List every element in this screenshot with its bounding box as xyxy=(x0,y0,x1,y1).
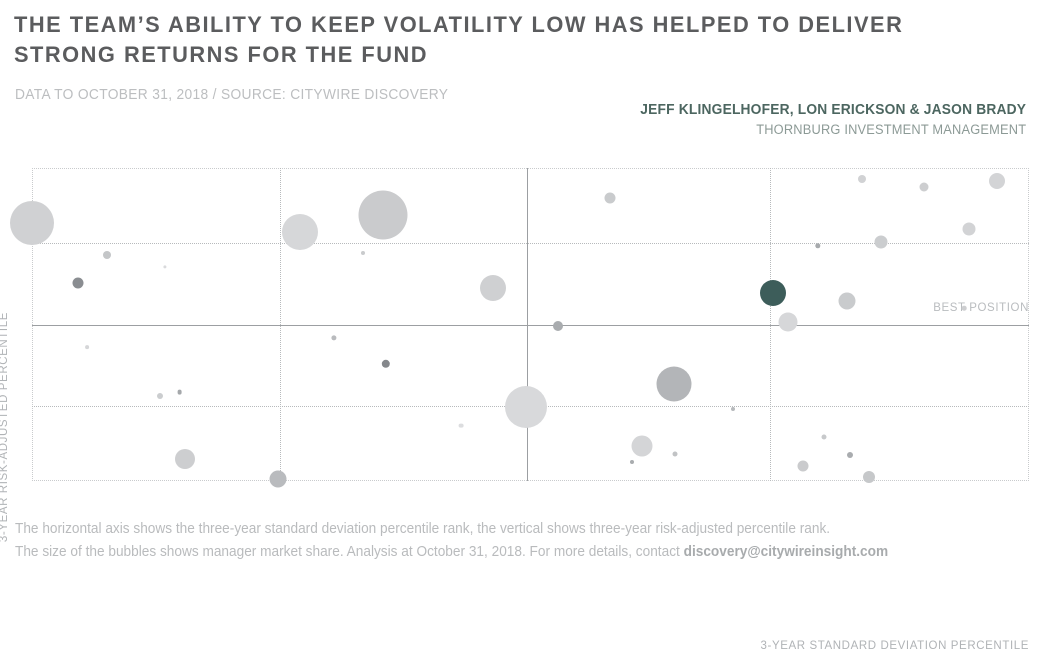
bubble-point[interactable] xyxy=(270,471,287,488)
bubble-point[interactable] xyxy=(657,367,692,402)
bubble-point[interactable] xyxy=(847,452,853,458)
bubble-point[interactable] xyxy=(72,277,83,288)
contact-email-link[interactable]: discovery@citywireinsight.com xyxy=(684,544,889,560)
data-source-subtitle: DATA TO OCTOBER 31, 2018 / SOURCE: CITYW… xyxy=(15,87,448,103)
bubble-point[interactable] xyxy=(480,275,506,301)
bubble-point[interactable] xyxy=(875,236,888,249)
bubble-highlighted[interactable] xyxy=(760,280,786,306)
footer-line-2: The size of the bubbles shows manager ma… xyxy=(15,544,684,560)
x-axis-label: 3-YEAR STANDARD DEVIATION PERCENTILE xyxy=(761,640,1029,652)
y-axis-label: 3-YEAR RISK-ADJUSTED PERCENTILE xyxy=(0,312,10,542)
bubble-chart: 3-YEAR RISK-ADJUSTED PERCENTILE BEST POS… xyxy=(0,150,1040,500)
bubble-point[interactable] xyxy=(10,201,54,245)
bubble-point[interactable] xyxy=(962,306,967,311)
bubble-point[interactable] xyxy=(157,393,163,399)
plot-area xyxy=(32,168,1029,481)
bubble-point[interactable] xyxy=(920,183,929,192)
bubble-point[interactable] xyxy=(838,293,855,310)
bubble-point[interactable] xyxy=(458,423,463,428)
page-title: THE TEAM’S ABILITY TO KEEP VOLATILITY LO… xyxy=(14,10,965,70)
bubble-point[interactable] xyxy=(673,452,678,457)
bubble-point[interactable] xyxy=(778,312,797,331)
bubble-point[interactable] xyxy=(821,435,826,440)
bubble-point[interactable] xyxy=(505,386,547,428)
footer-note: The horizontal axis shows the three-year… xyxy=(15,518,984,564)
bubble-point[interactable] xyxy=(358,190,407,239)
bubble-point[interactable] xyxy=(963,223,976,236)
footer-line-1: The horizontal axis shows the three-year… xyxy=(15,521,830,537)
bubble-point[interactable] xyxy=(553,321,563,331)
bubble-point[interactable] xyxy=(361,251,365,255)
bubble-point[interactable] xyxy=(632,435,653,456)
bubble-point[interactable] xyxy=(858,175,866,183)
bubble-point[interactable] xyxy=(605,193,616,204)
bubble-point[interactable] xyxy=(175,449,195,469)
bubble-point[interactable] xyxy=(85,345,89,349)
header: THE TEAM’S ABILITY TO KEEP VOLATILITY LO… xyxy=(0,0,1040,150)
bubble-point[interactable] xyxy=(103,251,111,259)
bubble-point[interactable] xyxy=(989,173,1005,189)
bubble-point[interactable] xyxy=(731,407,735,411)
bubble-point[interactable] xyxy=(177,389,182,394)
manager-names: JEFF KLINGELHOFER, LON ERICKSON & JASON … xyxy=(640,102,1026,118)
bubble-point[interactable] xyxy=(282,214,318,250)
axis-median-horizontal xyxy=(32,325,1029,326)
bubble-point[interactable] xyxy=(797,461,808,472)
bubble-point[interactable] xyxy=(863,471,875,483)
bubble-point[interactable] xyxy=(630,460,634,464)
firm-name: THORNBURG INVESTMENT MANAGEMENT xyxy=(756,122,1026,137)
